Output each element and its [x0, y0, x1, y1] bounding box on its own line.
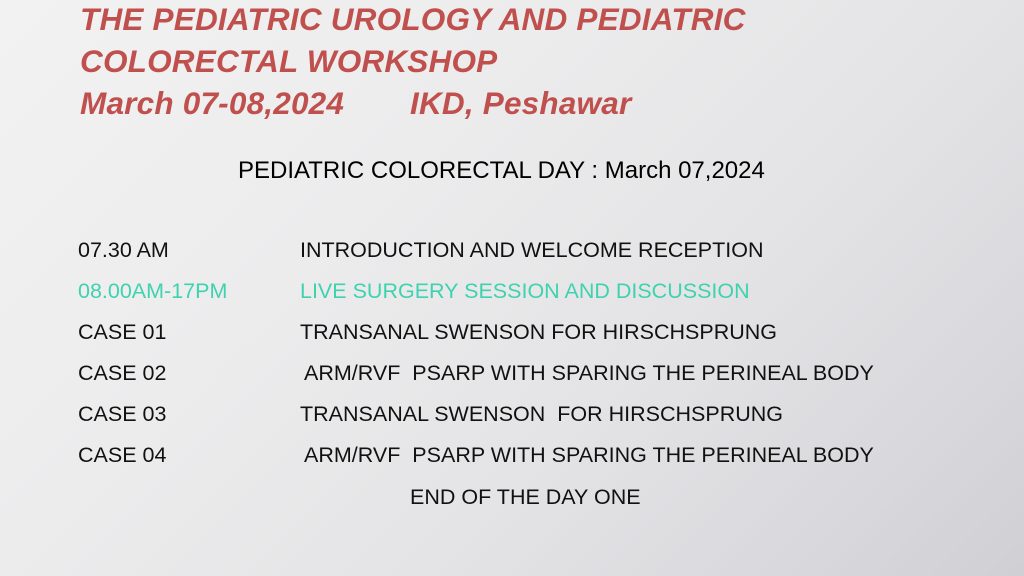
title-line-1: THE PEDIATRIC UROLOGY AND PEDIATRIC [80, 0, 980, 40]
agenda-row-description: ARM/RVF PSARP WITH SPARING THE PERINEAL … [300, 443, 998, 468]
agenda-row: CASE 02 ARM/RVF PSARP WITH SPARING THE P… [78, 361, 998, 402]
agenda-row-case: CASE 02 [78, 361, 300, 386]
agenda-row-case: CASE 03 [78, 402, 300, 427]
agenda-row-description: LIVE SURGERY SESSION AND DISCUSSION [300, 279, 998, 304]
agenda-row: CASE 04 ARM/RVF PSARP WITH SPARING THE P… [78, 443, 998, 484]
agenda-row-description: TRANSANAL SWENSON FOR HIRSCHSPRUNG [300, 320, 998, 345]
agenda-row: 08.00AM-17PM LIVE SURGERY SESSION AND DI… [78, 279, 998, 320]
agenda-row-time: 07.30 AM [78, 238, 300, 263]
workshop-date: March 07-08,2024 [80, 82, 410, 124]
agenda-list: 07.30 AM INTRODUCTION AND WELCOME RECEPT… [78, 238, 998, 484]
workshop-venue: IKD, Peshawar [410, 82, 631, 124]
agenda-row: CASE 01 TRANSANAL SWENSON FOR HIRSCHSPRU… [78, 320, 998, 361]
agenda-row-time: 08.00AM-17PM [78, 279, 300, 304]
slide: THE PEDIATRIC UROLOGY AND PEDIATRIC COLO… [0, 0, 1024, 576]
agenda-row-description: INTRODUCTION AND WELCOME RECEPTION [300, 238, 998, 263]
agenda-row: 07.30 AM INTRODUCTION AND WELCOME RECEPT… [78, 238, 998, 279]
title-line-2: COLORECTAL WORKSHOP [80, 40, 980, 82]
slide-subtitle: PEDIATRIC COLORECTAL DAY : March 07,2024 [238, 157, 765, 185]
end-of-day-note: END OF THE DAY ONE [410, 485, 641, 510]
slide-title: THE PEDIATRIC UROLOGY AND PEDIATRIC COLO… [80, 0, 980, 124]
agenda-row-description: TRANSANAL SWENSON FOR HIRSCHSPRUNG [300, 402, 998, 427]
title-line-3: March 07-08,2024 IKD, Peshawar [80, 82, 980, 124]
agenda-row: CASE 03 TRANSANAL SWENSON FOR HIRSCHSPRU… [78, 402, 998, 443]
agenda-row-description: ARM/RVF PSARP WITH SPARING THE PERINEAL … [300, 361, 998, 386]
agenda-row-case: CASE 01 [78, 320, 300, 345]
agenda-row-case: CASE 04 [78, 443, 300, 468]
